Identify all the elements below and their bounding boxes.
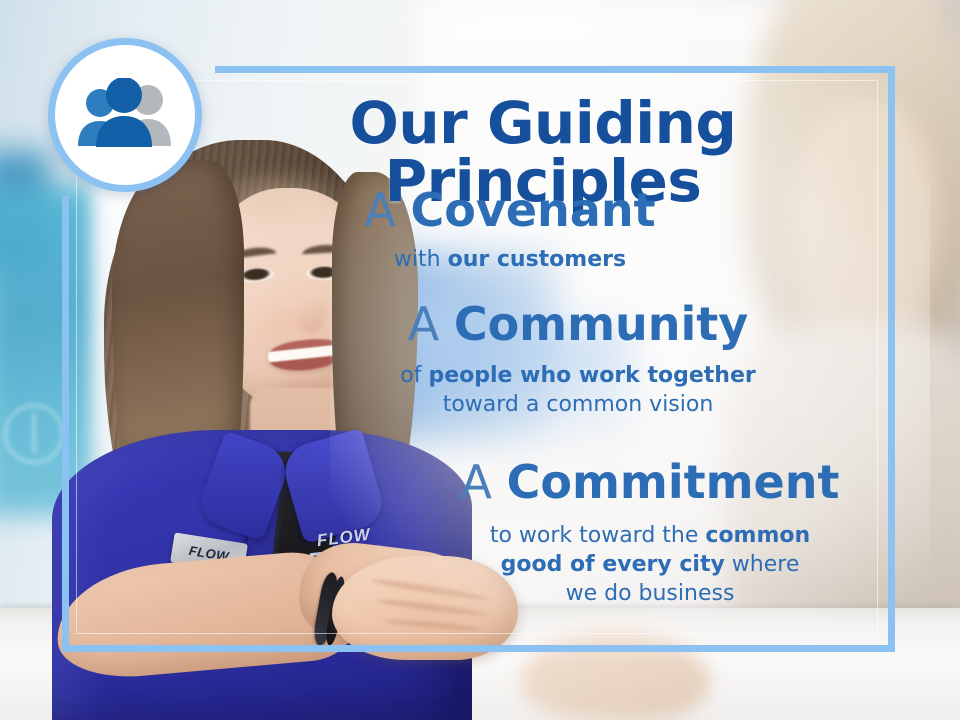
frame-border-right: [888, 66, 895, 652]
customer-face: [790, 96, 940, 346]
group-of-people-icon: [73, 78, 177, 152]
employee-nose: [296, 288, 326, 334]
frame-border-top: [215, 66, 895, 73]
frame-border-bottom: [62, 645, 895, 652]
group-of-people-badge: [48, 38, 202, 192]
guiding-principles-graphic: FLOW FLOW: [0, 0, 960, 720]
frame-border-left: [62, 196, 69, 652]
customer-body: [726, 320, 960, 620]
